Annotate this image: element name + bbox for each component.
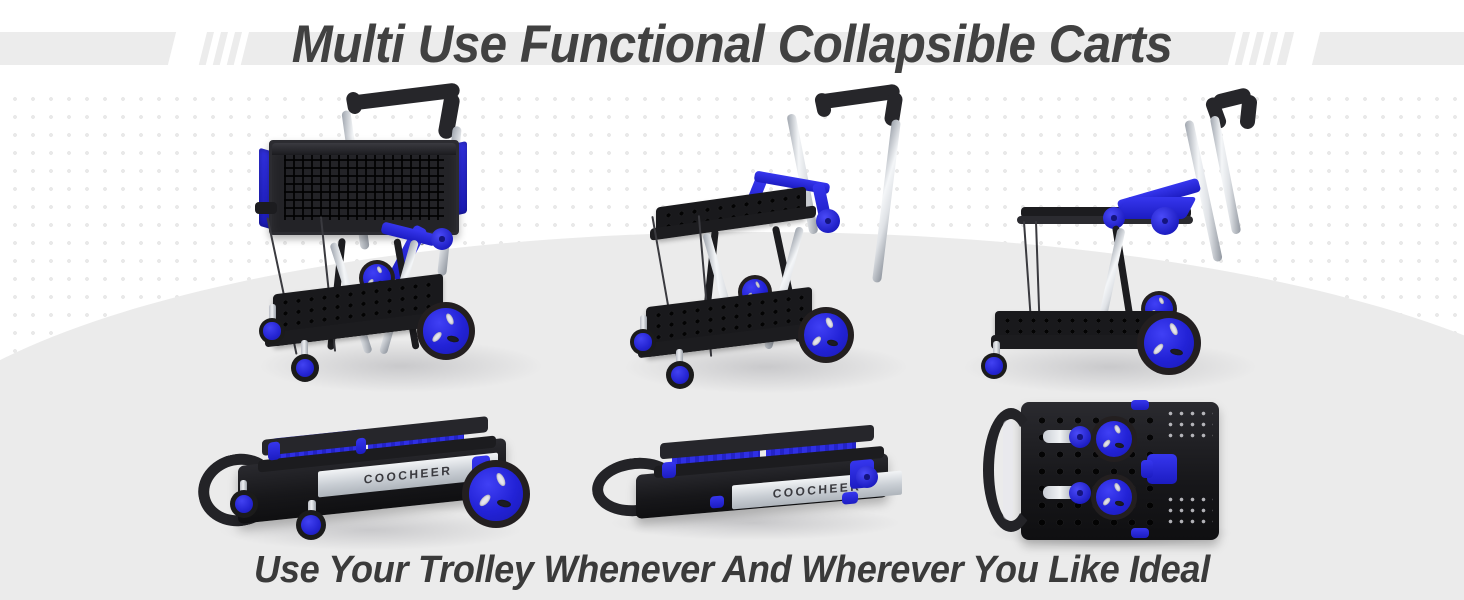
caster-wheel <box>296 510 326 540</box>
wheel <box>462 460 530 528</box>
wheel <box>798 307 854 363</box>
product-cart-with-crate: COOCHEER <box>255 88 555 388</box>
page-title: Multi Use Functional Collapsible Carts <box>51 14 1413 75</box>
product-cart-two-shelf <box>620 85 920 390</box>
wheel <box>1137 311 1201 375</box>
product-folded-cart-front: COOCHEER <box>600 422 912 532</box>
caster-wheel <box>230 490 258 518</box>
caster-wheel <box>291 354 319 382</box>
wheel <box>1091 474 1137 520</box>
caster-wheel <box>259 318 285 344</box>
wheel <box>417 302 475 360</box>
caster-wheel <box>666 361 694 389</box>
banner-caption: Use Your Trolley Whenever And Wherever Y… <box>37 549 1428 592</box>
product-folded-cart-angled: COOCHEER <box>210 418 530 544</box>
wheel <box>1091 416 1137 462</box>
product-cart-side-view <box>955 85 1265 390</box>
caster-wheel <box>630 329 656 355</box>
brand-label: COOCHEER <box>364 463 453 486</box>
product-folded-cart-underside <box>985 398 1235 544</box>
product-banner: Multi Use Functional Collapsible Carts C… <box>0 0 1464 600</box>
caster-wheel <box>981 353 1007 379</box>
folding-crate <box>269 140 459 235</box>
